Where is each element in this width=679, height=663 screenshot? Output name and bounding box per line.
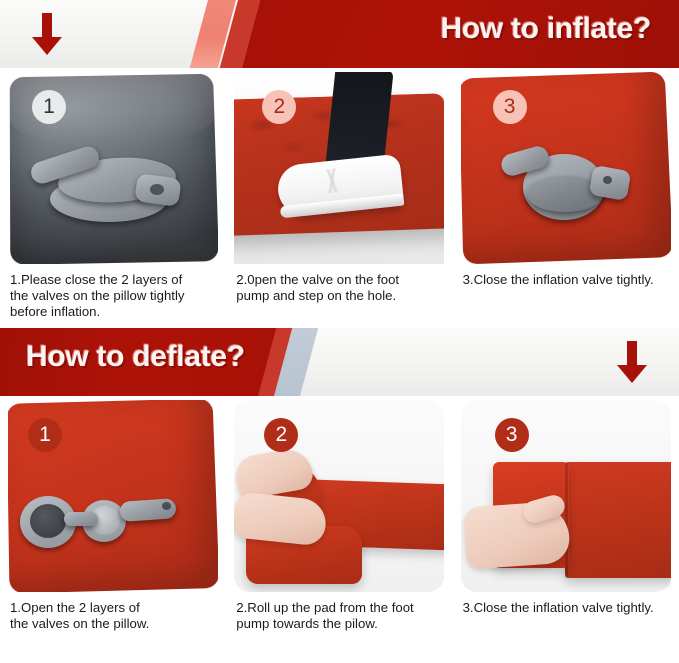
inflate-step-2-cell: 2: [226, 68, 452, 268]
deflate-step-1-cell: 1: [0, 396, 226, 596]
deflate-title: How to deflate?: [26, 340, 245, 374]
open-valve-hole-left: [30, 504, 66, 538]
inflate-photo-row: 1 2 3: [0, 68, 679, 268]
inflate-step-3-cell: 3: [453, 68, 679, 268]
step-badge-1: 1: [28, 418, 62, 452]
inflate-banner: How to inflate?: [0, 0, 679, 68]
red-pad-right-panel: [565, 462, 671, 578]
closed-valve-on-red-fabric-photo: [461, 72, 671, 264]
deflate-caption-3: 3.Close the inflation valve tightly.: [453, 596, 679, 639]
step-badge-3: 3: [493, 90, 527, 124]
deflate-caption-2: 2.Roll up the pad from the foot pump tow…: [226, 596, 452, 639]
inflate-step-1-cell: 1: [0, 68, 226, 268]
deflate-photo-row: 1 2 3: [0, 396, 679, 596]
valve-side-tab-hole: [603, 176, 612, 184]
pad-fold-seam: [565, 462, 568, 578]
inflate-caption-2: 2.0pen the valve on the foot pump and st…: [226, 268, 452, 326]
inflate-caption-1: 1.Please close the 2 layers of the valve…: [0, 268, 226, 326]
deflate-step-3-cell: 3: [453, 396, 679, 596]
inflate-title: How to inflate?: [441, 12, 651, 46]
deflate-banner: How to deflate?: [0, 328, 679, 396]
deflate-captions: 1.Open the 2 layers of the valves on the…: [0, 596, 679, 639]
hand-folding-red-pad-photo: [461, 400, 671, 592]
inflate-caption-3: 3.Close the inflation valve tightly.: [453, 268, 679, 326]
valve-tail-hole: [162, 502, 171, 510]
valve-tab-hole: [150, 184, 164, 195]
step-badge-1: 1: [32, 90, 66, 124]
valve-connector-strap: [64, 512, 98, 526]
inflate-captions: 1.Please close the 2 layers of the valve…: [0, 268, 679, 326]
down-arrow-icon: [615, 339, 649, 385]
step-badge-3: 3: [495, 418, 529, 452]
deflate-step-2-cell: 2: [226, 396, 452, 596]
deflate-caption-1: 1.Open the 2 layers of the valves on the…: [0, 596, 226, 639]
shoe-laces: [303, 166, 365, 196]
down-arrow-icon: [30, 11, 64, 57]
